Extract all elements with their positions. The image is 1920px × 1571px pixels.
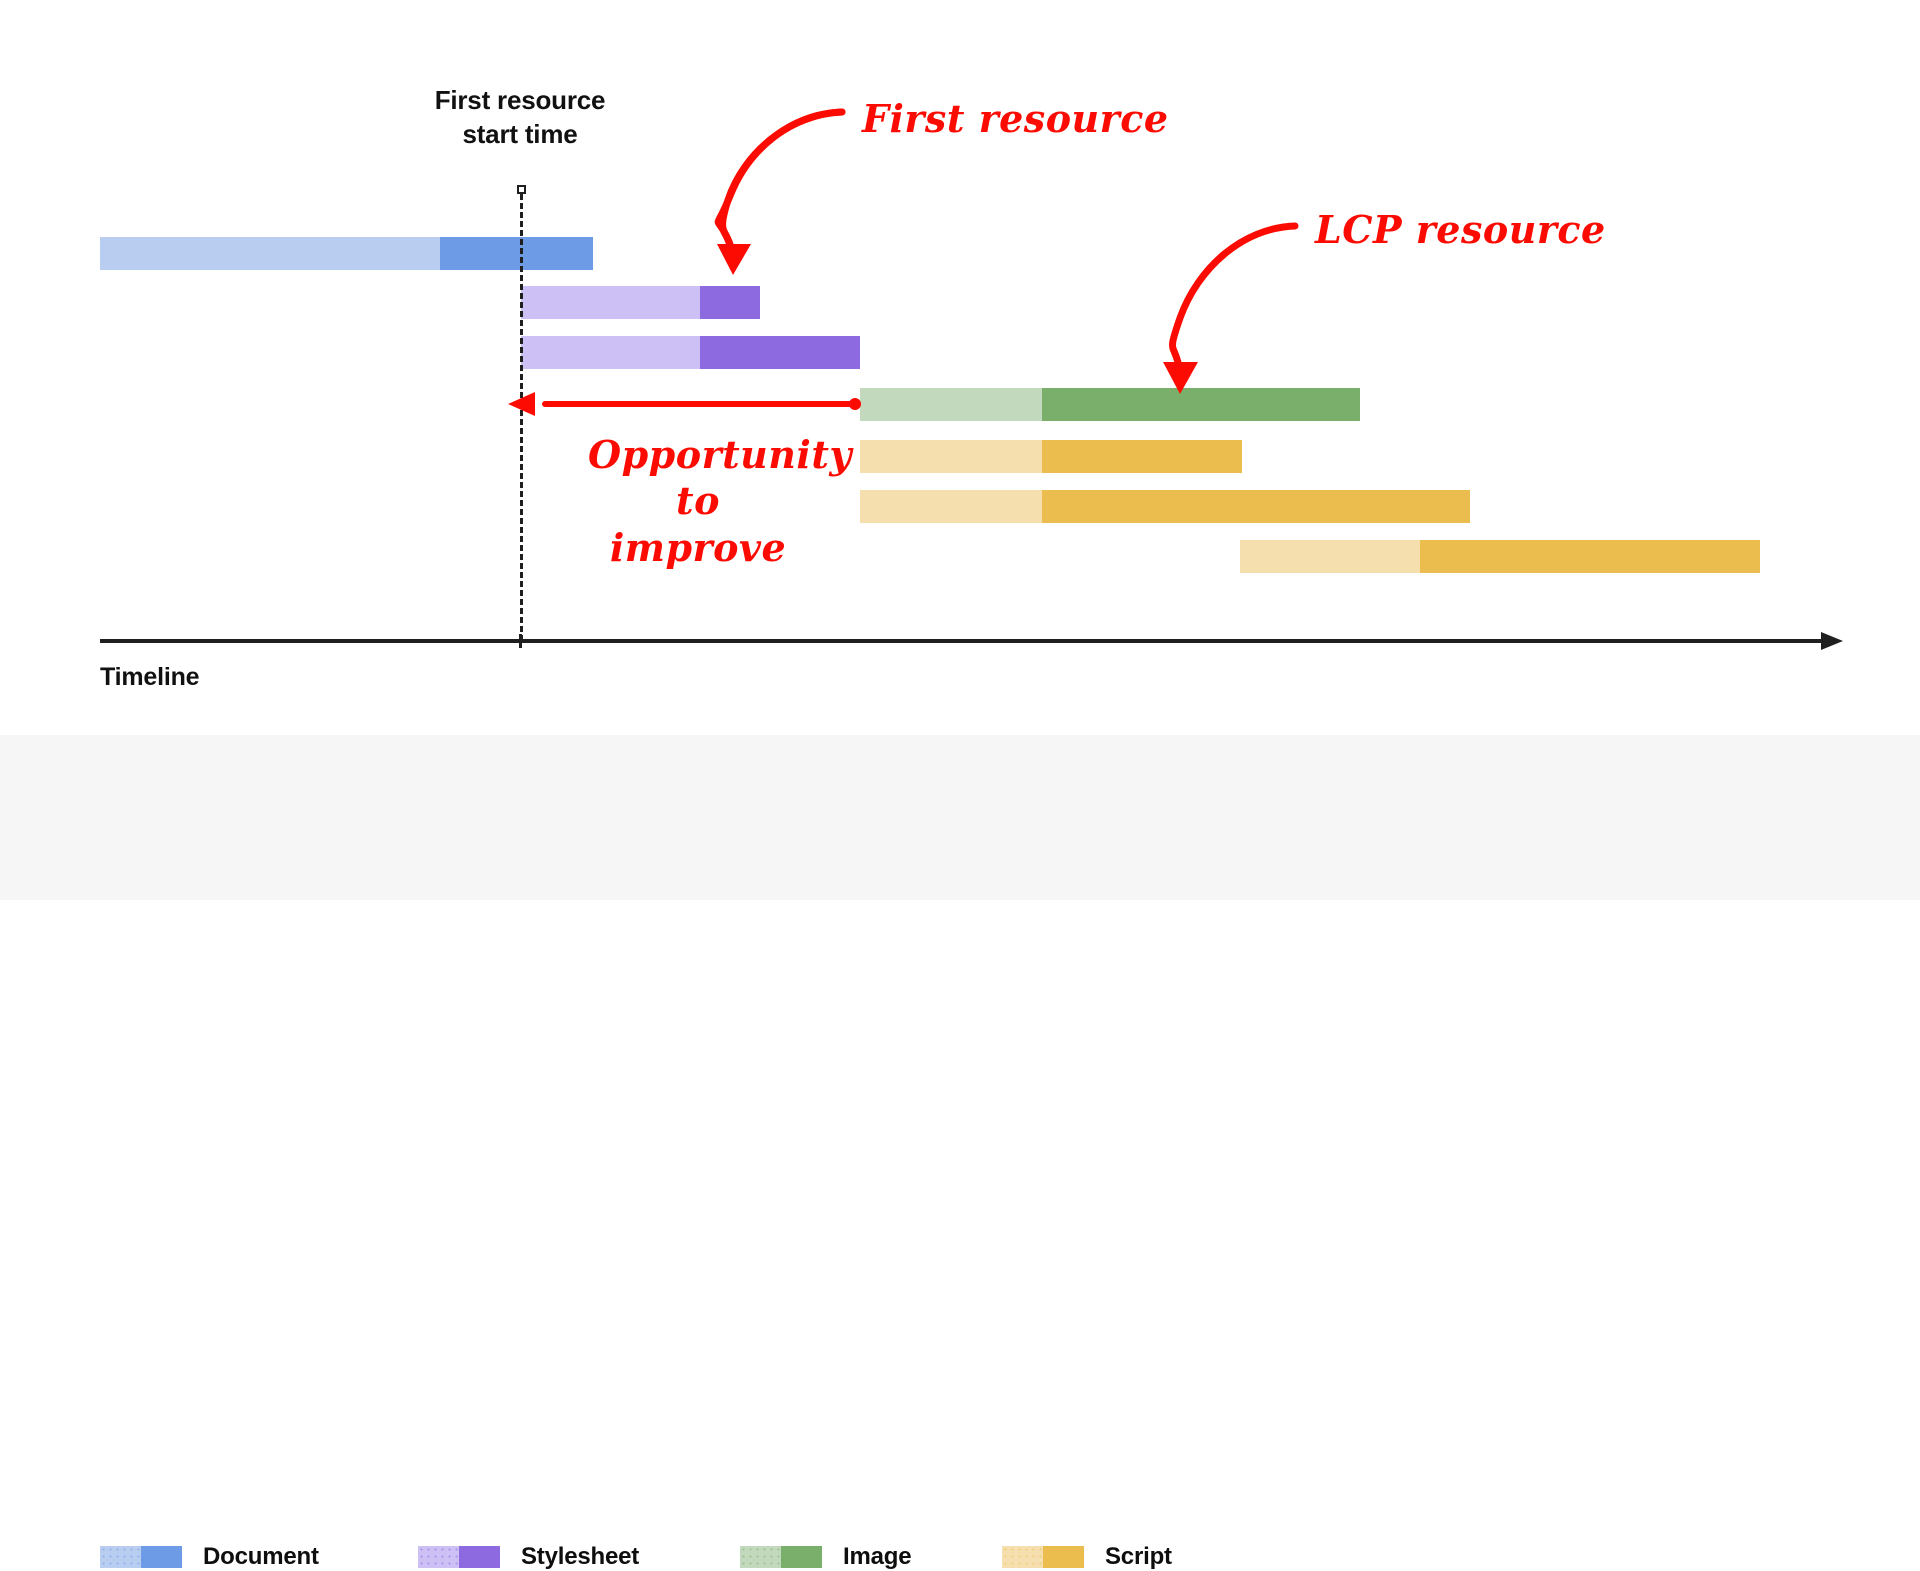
legend-item-stylesheet: Stylesheet <box>418 1543 639 1571</box>
timeline-axis-arrow-icon <box>1821 626 1851 656</box>
legend-swatch-icon <box>740 1546 822 1568</box>
diagram-canvas: First resource start time Timeline First… <box>0 0 1920 900</box>
legend-swatch-wait <box>100 1546 141 1568</box>
first-resource-guide-line <box>520 194 523 641</box>
legend-swatch-icon <box>418 1546 500 1568</box>
bar-segment-download <box>1042 388 1360 421</box>
bar-segment-download <box>1042 490 1470 523</box>
waterfall-bar <box>521 286 760 319</box>
waterfall-bar <box>1240 540 1760 573</box>
legend-item-document: Document <box>100 1543 319 1571</box>
legend-swatch-wait <box>418 1546 459 1568</box>
bar-segment-wait <box>860 440 1042 473</box>
bar-segment-download <box>1042 440 1242 473</box>
waterfall-bar <box>860 440 1242 473</box>
legend-swatch-wait <box>1002 1546 1043 1568</box>
bar-segment-wait <box>521 286 700 319</box>
legend-label: Stylesheet <box>521 1543 639 1571</box>
bar-segment-download <box>440 237 593 270</box>
annotation-first-resource: First resource <box>862 96 1169 142</box>
legend-swatch-download <box>1043 1546 1084 1568</box>
legend-band: DocumentStylesheetImageScript <box>0 735 1920 900</box>
legend-swatch-wait <box>740 1546 781 1568</box>
waterfall-bar <box>860 490 1470 523</box>
waterfall-bar <box>521 336 860 369</box>
first-resource-marker-icon <box>517 185 526 194</box>
annotation-opportunity-to-improve: Opportunity to improve <box>588 432 808 571</box>
timeline-axis-label: Timeline <box>100 663 199 692</box>
chart-plot-area: First resource start time Timeline First… <box>0 0 1920 735</box>
waterfall-bar <box>860 388 1360 421</box>
timeline-axis <box>100 639 1825 643</box>
first-resource-start-time-label: First resource start time <box>350 84 690 152</box>
bar-segment-wait <box>100 237 440 270</box>
bar-segment-wait <box>1240 540 1420 573</box>
legend-label: Document <box>203 1543 319 1571</box>
bar-segment-download <box>700 286 760 319</box>
timeline-axis-tick <box>519 634 522 648</box>
bar-segment-download <box>700 336 860 369</box>
legend-item-image: Image <box>740 1543 911 1571</box>
bar-segment-wait <box>860 490 1042 523</box>
legend-swatch-download <box>459 1546 500 1568</box>
bar-segment-wait <box>860 388 1042 421</box>
bar-segment-wait <box>521 336 700 369</box>
legend-swatch-icon <box>100 1546 182 1568</box>
bar-segment-download <box>1420 540 1760 573</box>
legend-swatch-download <box>781 1546 822 1568</box>
legend-label: Image <box>843 1543 911 1571</box>
legend-swatch-download <box>141 1546 182 1568</box>
legend-item-script: Script <box>1002 1543 1172 1571</box>
legend-label: Script <box>1105 1543 1172 1571</box>
annotation-lcp-resource: LCP resource <box>1315 207 1606 253</box>
legend-swatch-icon <box>1002 1546 1084 1568</box>
